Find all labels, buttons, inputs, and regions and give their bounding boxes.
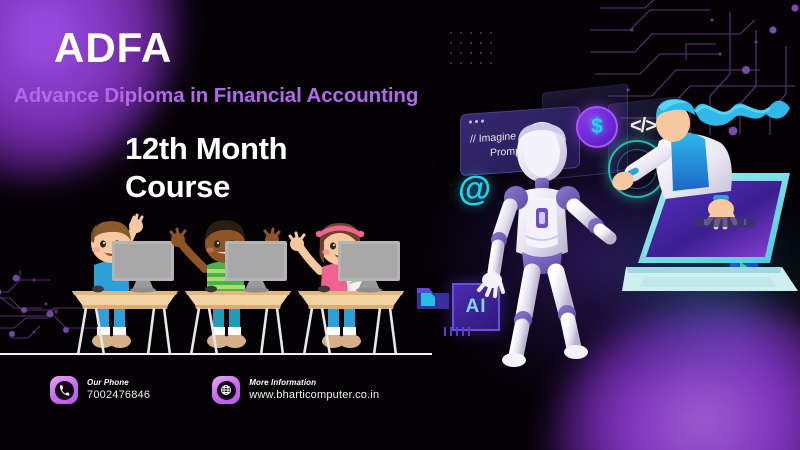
- page-title: ADFA: [54, 27, 172, 69]
- ai-illustration: // Imagine Prompt_ @ $ </> AI: [430, 0, 800, 450]
- student-boy-green: [171, 220, 291, 355]
- phone-value: 7002476846: [87, 390, 150, 402]
- phone-label: Our Phone: [87, 379, 150, 387]
- globe-glyph: [220, 384, 232, 396]
- contact-phone[interactable]: Our Phone 7002476846: [50, 376, 150, 404]
- website-label: More Information: [249, 379, 379, 387]
- student-boy-blue: [72, 215, 178, 355]
- student-girl-pink: [290, 223, 404, 355]
- website-value: www.bharticomputer.co.in: [249, 390, 379, 402]
- website-text: More Information www.bharticomputer.co.i…: [249, 379, 379, 402]
- ai-chip-legs: [444, 327, 470, 336]
- website-badge: [212, 376, 240, 404]
- ai-robot: [482, 120, 612, 365]
- globe-icon: [217, 381, 236, 400]
- phone-glyph: [59, 385, 70, 396]
- promo-banner: ADFA Advance Diploma in Financial Accoun…: [0, 0, 800, 450]
- phone-icon: [55, 381, 74, 400]
- contact-website[interactable]: More Information www.bharticomputer.co.i…: [212, 376, 379, 404]
- course-duration-line2: Course: [125, 168, 287, 206]
- contact-bar: Our Phone 7002476846 More Informat: [50, 376, 379, 404]
- course-duration-line1: 12th Month: [125, 130, 287, 168]
- divider: [0, 353, 432, 355]
- phone-badge: [50, 376, 78, 404]
- developer-figure: [625, 95, 775, 245]
- classroom-illustration: [70, 215, 410, 357]
- course-duration: 12th Month Course: [125, 130, 287, 206]
- page-subtitle: Advance Diploma in Financial Accounting: [14, 84, 418, 108]
- folder-icon: [415, 282, 451, 312]
- phone-text: Our Phone 7002476846: [87, 379, 150, 402]
